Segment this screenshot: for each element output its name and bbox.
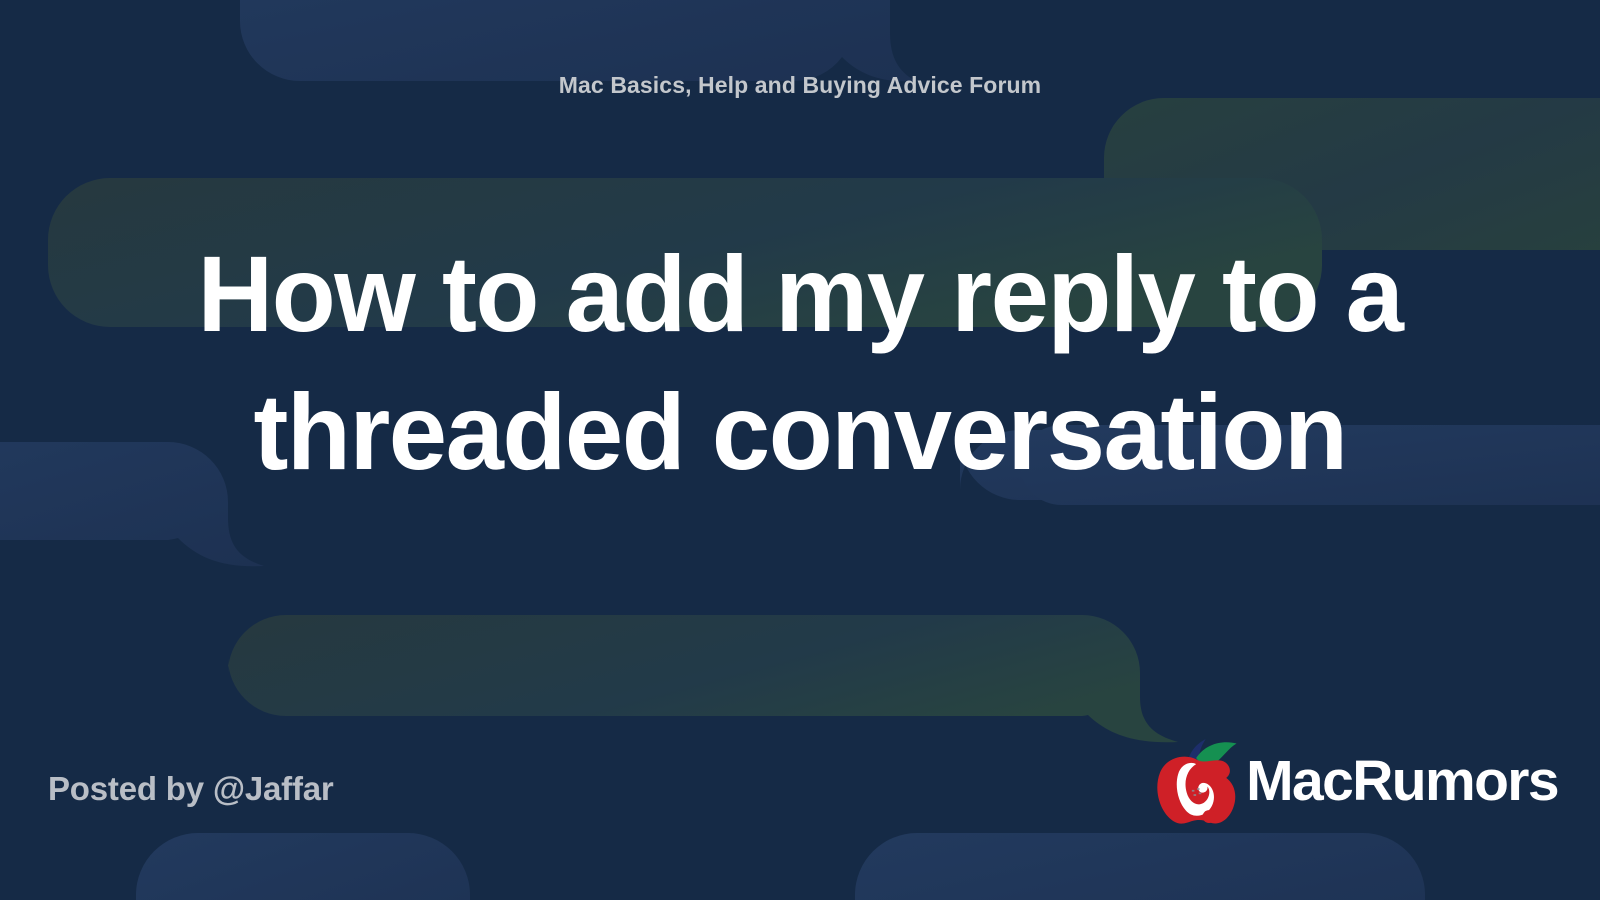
forum-name: Mac Basics, Help and Buying Advice Forum: [0, 72, 1600, 99]
macrumors-apple-logo-icon: [1154, 737, 1240, 829]
macrumors-wordmark: MacRumors: [1246, 753, 1558, 814]
page-title-wrap: How to add my reply to a threaded conver…: [140, 225, 1460, 501]
page-title: How to add my reply to a threaded conver…: [160, 225, 1440, 501]
macrumors-brand: MacRumors: [1154, 735, 1558, 831]
posted-by-label: Posted by @Jaffar: [48, 770, 334, 808]
card-content: Mac Basics, Help and Buying Advice Forum…: [0, 0, 1600, 900]
macrumors-share-card: Mac Basics, Help and Buying Advice Forum…: [0, 0, 1600, 900]
